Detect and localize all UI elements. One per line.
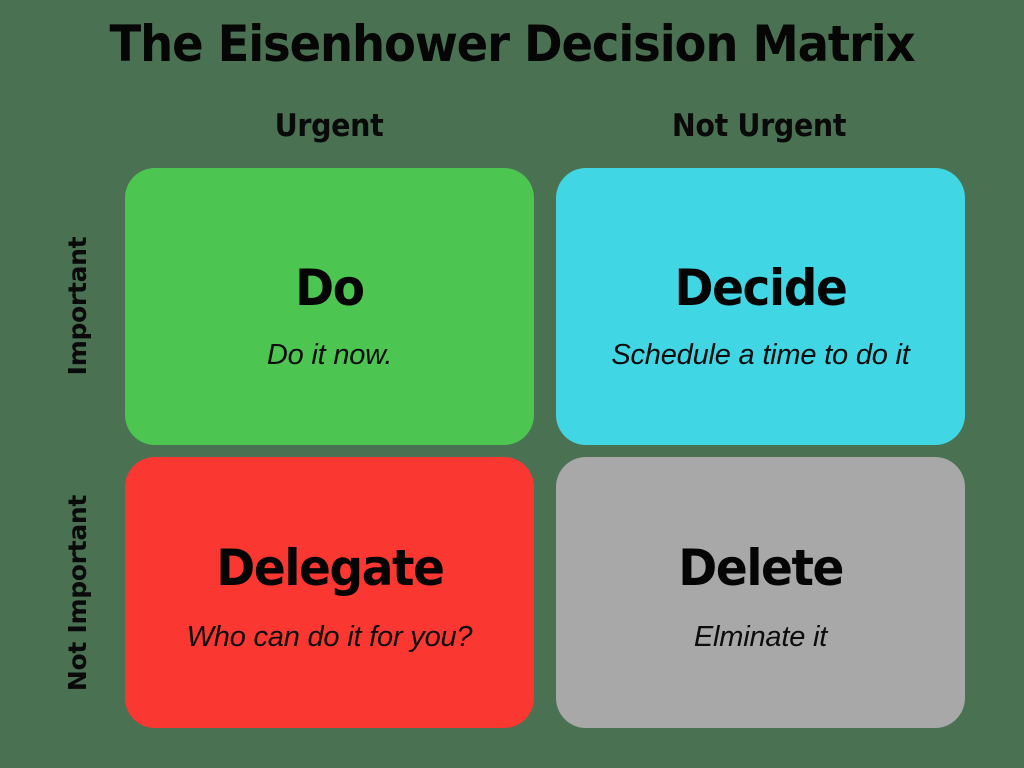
quadrant-delete[interactable]: Delete Elminate it <box>556 457 965 728</box>
quadrant-decide[interactable]: Decide Schedule a time to do it <box>556 168 965 445</box>
quadrant-do-subtitle: Do it now. <box>267 338 392 372</box>
row-label-important: Important <box>63 156 93 456</box>
quadrant-delegate-title: Delegate <box>216 540 443 596</box>
quadrant-decide-title: Decide <box>675 260 847 316</box>
eisenhower-matrix: The Eisenhower Decision Matrix Urgent No… <box>0 0 1024 768</box>
quadrant-decide-subtitle: Schedule a time to do it <box>611 338 909 372</box>
quadrant-delete-subtitle: Elminate it <box>694 620 827 654</box>
quadrant-delegate-subtitle: Who can do it for you? <box>187 620 473 654</box>
row-label-not-important: Not Important <box>63 443 93 743</box>
quadrant-do[interactable]: Do Do it now. <box>125 168 534 445</box>
quadrant-do-title: Do <box>295 260 363 316</box>
column-header-urgent: Urgent <box>237 105 421 147</box>
page-title: The Eisenhower Decision Matrix <box>36 14 988 74</box>
quadrant-delegate[interactable]: Delegate Who can do it for you? <box>125 457 534 728</box>
quadrant-delete-title: Delete <box>678 540 843 596</box>
column-header-not-urgent: Not Urgent <box>667 105 851 147</box>
